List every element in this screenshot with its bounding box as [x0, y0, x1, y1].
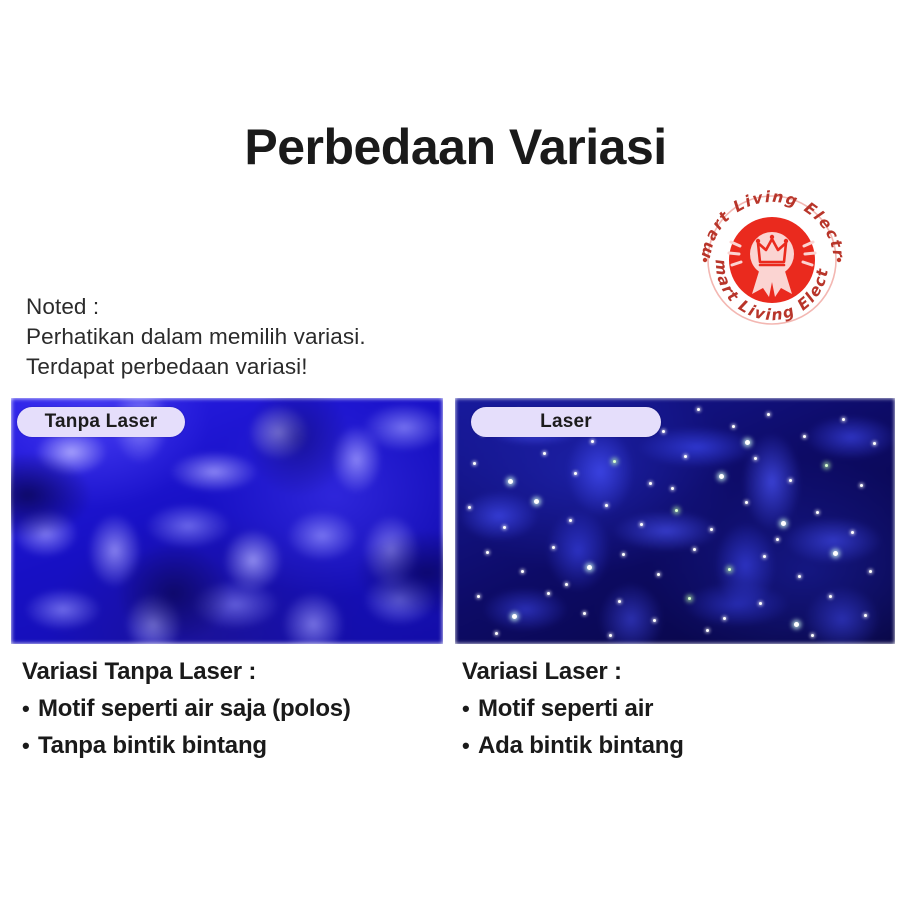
promo-graphic-page: Perbedaan Variasi Smart Living Electro S…	[0, 0, 911, 911]
list-item: Motif seperti air	[462, 690, 684, 727]
panel-laser: Laser	[455, 398, 895, 644]
caption-list-tanpa-laser: Motif seperti air saja (polos) Tanpa bin…	[22, 690, 351, 764]
page-title: Perbedaan Variasi	[0, 118, 911, 176]
badge-laser: Laser	[471, 407, 661, 437]
noted-block: Noted : Perhatikan dalam memilih variasi…	[26, 292, 486, 382]
list-item: Tanpa bintik bintang	[22, 727, 351, 764]
list-item: Motif seperti air saja (polos)	[22, 690, 351, 727]
caption-laser: Variasi Laser : Motif seperti air Ada bi…	[462, 658, 684, 764]
panel-tanpa-laser: Tanpa Laser	[11, 398, 443, 644]
comparison-panels: Tanpa Laser Laser	[11, 398, 895, 644]
caption-list-laser: Motif seperti air Ada bintik bintang	[462, 690, 684, 764]
badge-tanpa-laser: Tanpa Laser	[17, 407, 185, 437]
caption-heading-tanpa-laser: Variasi Tanpa Laser :	[22, 658, 351, 686]
noted-line-3: Terdapat perbedaan variasi!	[26, 352, 486, 382]
smart-living-electro-logo: Smart Living Electro Smart Living Electr…	[694, 180, 850, 328]
noted-line-2: Perhatikan dalam memilih variasi.	[26, 322, 486, 352]
noted-line-1: Noted :	[26, 292, 486, 322]
caption-heading-laser: Variasi Laser :	[462, 658, 684, 686]
caption-tanpa-laser: Variasi Tanpa Laser : Motif seperti air …	[22, 658, 351, 764]
list-item: Ada bintik bintang	[462, 727, 684, 764]
caption-columns: Variasi Tanpa Laser : Motif seperti air …	[0, 658, 911, 778]
